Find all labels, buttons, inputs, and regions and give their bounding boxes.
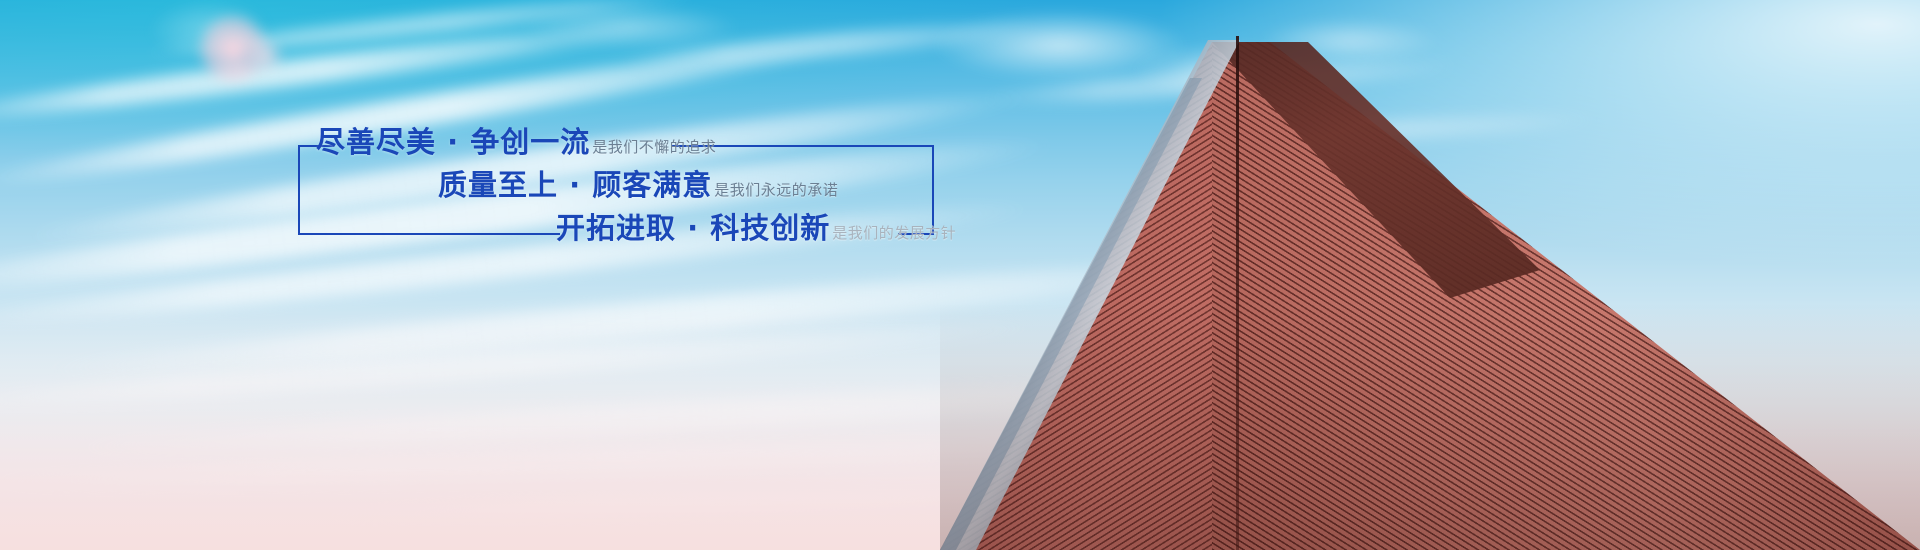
slogan-line-2: 质量至上 · 顾客满意 是我们永远的承诺: [298, 171, 1098, 200]
slogan-1-sub: 是我们不懈的追求: [592, 140, 716, 155]
slogan-3-sub: 是我们的发展方针: [832, 226, 956, 241]
slogan-3-main: 开拓进取 · 科技创新: [556, 214, 830, 243]
slogan-1-main: 尽善尽美 · 争创一流: [316, 128, 590, 157]
cloud-puff: [1260, 18, 1440, 64]
hero-banner: 尽善尽美 · 争创一流 是我们不懈的追求 质量至上 · 顾客满意 是我们永远的承…: [0, 0, 1920, 550]
slogan-group: 尽善尽美 · 争创一流 是我们不懈的追求 质量至上 · 顾客满意 是我们永远的承…: [298, 128, 1098, 257]
slogan-line-1: 尽善尽美 · 争创一流 是我们不懈的追求: [298, 128, 1098, 157]
slogan-2-sub: 是我们永远的承诺: [714, 183, 838, 198]
cloud-puff: [520, 4, 740, 50]
slogan-line-3: 开拓进取 · 科技创新 是我们的发展方针: [298, 214, 1098, 243]
horizon-haze: [0, 303, 1920, 550]
lens-flare: [246, 36, 286, 76]
slogan-2-main: 质量至上 · 顾客满意: [438, 171, 712, 200]
